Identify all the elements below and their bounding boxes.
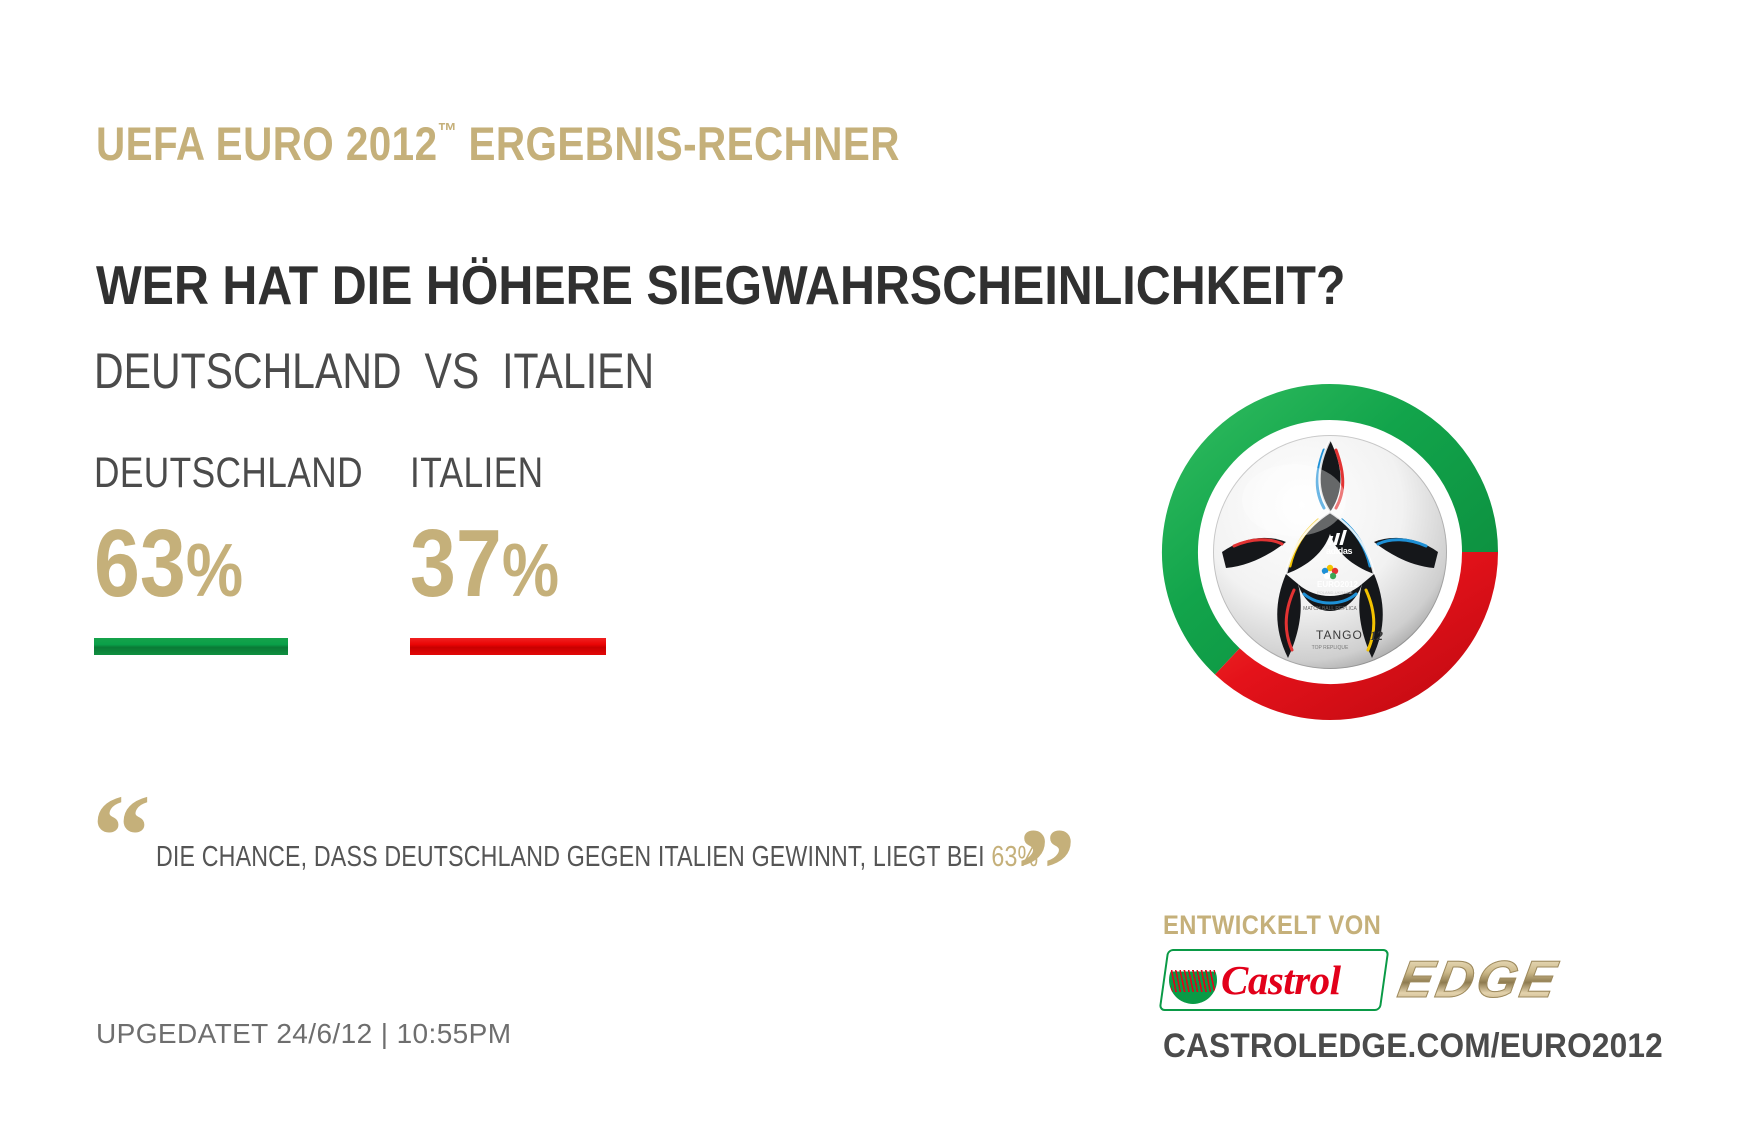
svg-text:adidas: adidas xyxy=(1326,546,1353,556)
probability-donut-chart: adidas EURO2012 POLAND-UKRAINE xyxy=(1150,372,1510,732)
soccer-ball-svg: adidas EURO2012 POLAND-UKRAINE xyxy=(1212,434,1448,670)
svg-text:TANGO: TANGO xyxy=(1316,628,1363,642)
stat-home-team-name: DEUTSCHLAND xyxy=(94,452,363,498)
stat-away-number: 37 xyxy=(410,510,502,617)
stat-home-value: 63% xyxy=(94,516,376,616)
castrol-emblem-icon xyxy=(1169,956,1217,1004)
quote-block: “ DIE CHANCE, DASS DEUTSCHLAND GEGEN ITA… xyxy=(92,805,1092,895)
page-kicker-title: UEFA EURO 2012™ ERGEBNIS-RECHNER xyxy=(96,116,900,171)
svg-text:POLAND-UKRAINE: POLAND-UKRAINE xyxy=(1317,590,1353,595)
stat-away-percent-sign: % xyxy=(502,528,559,612)
kicker-text-main: UEFA EURO 2012 xyxy=(96,117,437,170)
matchup-vs-label: VS xyxy=(425,343,480,399)
page-title: WER HAT DIE HÖHERE SIEGWAHRSCHEINLICHKEI… xyxy=(96,253,1345,317)
stats-row: DEUTSCHLAND 63% ITALIEN 37% xyxy=(94,452,714,702)
castrol-logo: Castrol xyxy=(1159,949,1390,1011)
svg-text:TOP REPLIQUE: TOP REPLIQUE xyxy=(1312,645,1349,651)
matchup-line: DEUTSCHLANDVSITALIEN xyxy=(94,342,654,400)
matchup-away-team: ITALIEN xyxy=(502,343,654,399)
match-ball-replica-text: MATCH BALL REPLICA xyxy=(1303,606,1357,612)
castrol-edge-logo: Castrol EDGE xyxy=(1163,949,1633,1011)
stat-home-percent-sign: % xyxy=(186,528,243,612)
svg-text:12: 12 xyxy=(1370,628,1384,643)
stat-away-color-bar xyxy=(410,638,606,655)
stat-home-color-bar xyxy=(94,638,288,655)
quote-open-mark: “ xyxy=(92,777,151,895)
quote-text-body: DIE CHANCE, DASS DEUTSCHLAND GEGEN ITALI… xyxy=(156,841,991,873)
quote-close-mark: ” xyxy=(1017,811,1076,929)
soccer-ball-image: adidas EURO2012 POLAND-UKRAINE xyxy=(1212,434,1448,670)
stat-block-home: DEUTSCHLAND 63% xyxy=(94,452,422,655)
site-url: CASTROLEDGE.COM/EURO2012 xyxy=(1163,1027,1600,1066)
svg-text:EURO2012: EURO2012 xyxy=(1317,580,1358,589)
brand-block: ENTWICKELT VON Castrol EDGE CASTROLEDGE.… xyxy=(1163,910,1633,1066)
matchup-home-team: DEUTSCHLAND xyxy=(94,343,402,399)
kicker-text-tail: ERGEBNIS-RECHNER xyxy=(457,117,900,170)
stat-block-away: ITALIEN 37% xyxy=(410,452,606,655)
quote-text: DIE CHANCE, DASS DEUTSCHLAND GEGEN ITALI… xyxy=(156,841,1038,874)
developed-by-label: ENTWICKELT VON xyxy=(1163,910,1577,941)
stat-away-value: 37% xyxy=(410,516,579,616)
edge-wordmark: EDGE xyxy=(1394,954,1563,1006)
trademark-symbol: ™ xyxy=(437,119,456,144)
updated-timestamp: UPGEDATET 24/6/12 | 10:55PM xyxy=(96,1018,511,1050)
stat-home-number: 63 xyxy=(94,510,186,617)
stat-away-team-name: ITALIEN xyxy=(410,452,571,498)
castrol-wordmark: Castrol xyxy=(1221,960,1341,1001)
infographic-canvas: UEFA EURO 2012™ ERGEBNIS-RECHNER WER HAT… xyxy=(0,0,1748,1125)
